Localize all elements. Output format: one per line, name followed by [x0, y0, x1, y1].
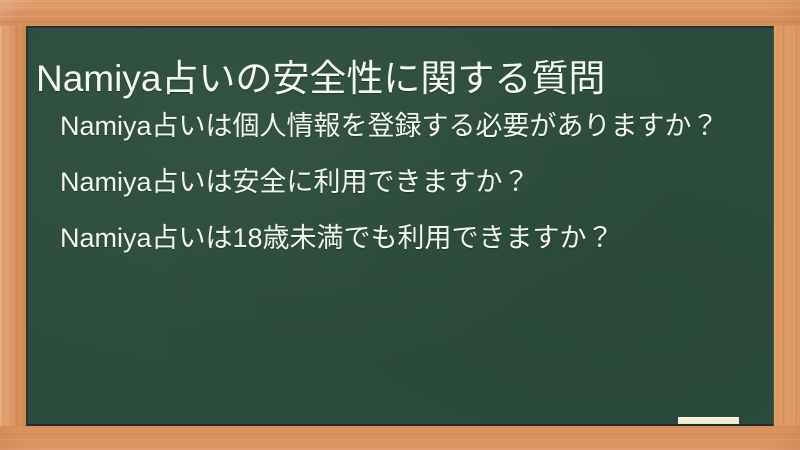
question-item: Namiya占いは18歳未満でも利用できますか？	[50, 218, 756, 258]
question-item: Namiya占いは安全に利用できますか？	[50, 162, 756, 202]
board-title: Namiya占いの安全性に関する質問	[36, 51, 768, 107]
frame-grain-top	[0, 0, 800, 26]
chalkboard-surface: Namiya占いの安全性に関する質問 Namiya占いは個人情報を登録する必要が…	[26, 26, 774, 426]
chalk-stick-icon	[678, 417, 739, 426]
frame-grain-bottom	[0, 426, 800, 450]
chalkboard-wooden-frame: Namiya占いの安全性に関する質問 Namiya占いは個人情報を登録する必要が…	[0, 0, 800, 450]
question-list: Namiya占いは個人情報を登録する必要がありますか？ Namiya占いは安全に…	[50, 106, 756, 258]
question-item: Namiya占いは個人情報を登録する必要がありますか？	[50, 106, 756, 146]
